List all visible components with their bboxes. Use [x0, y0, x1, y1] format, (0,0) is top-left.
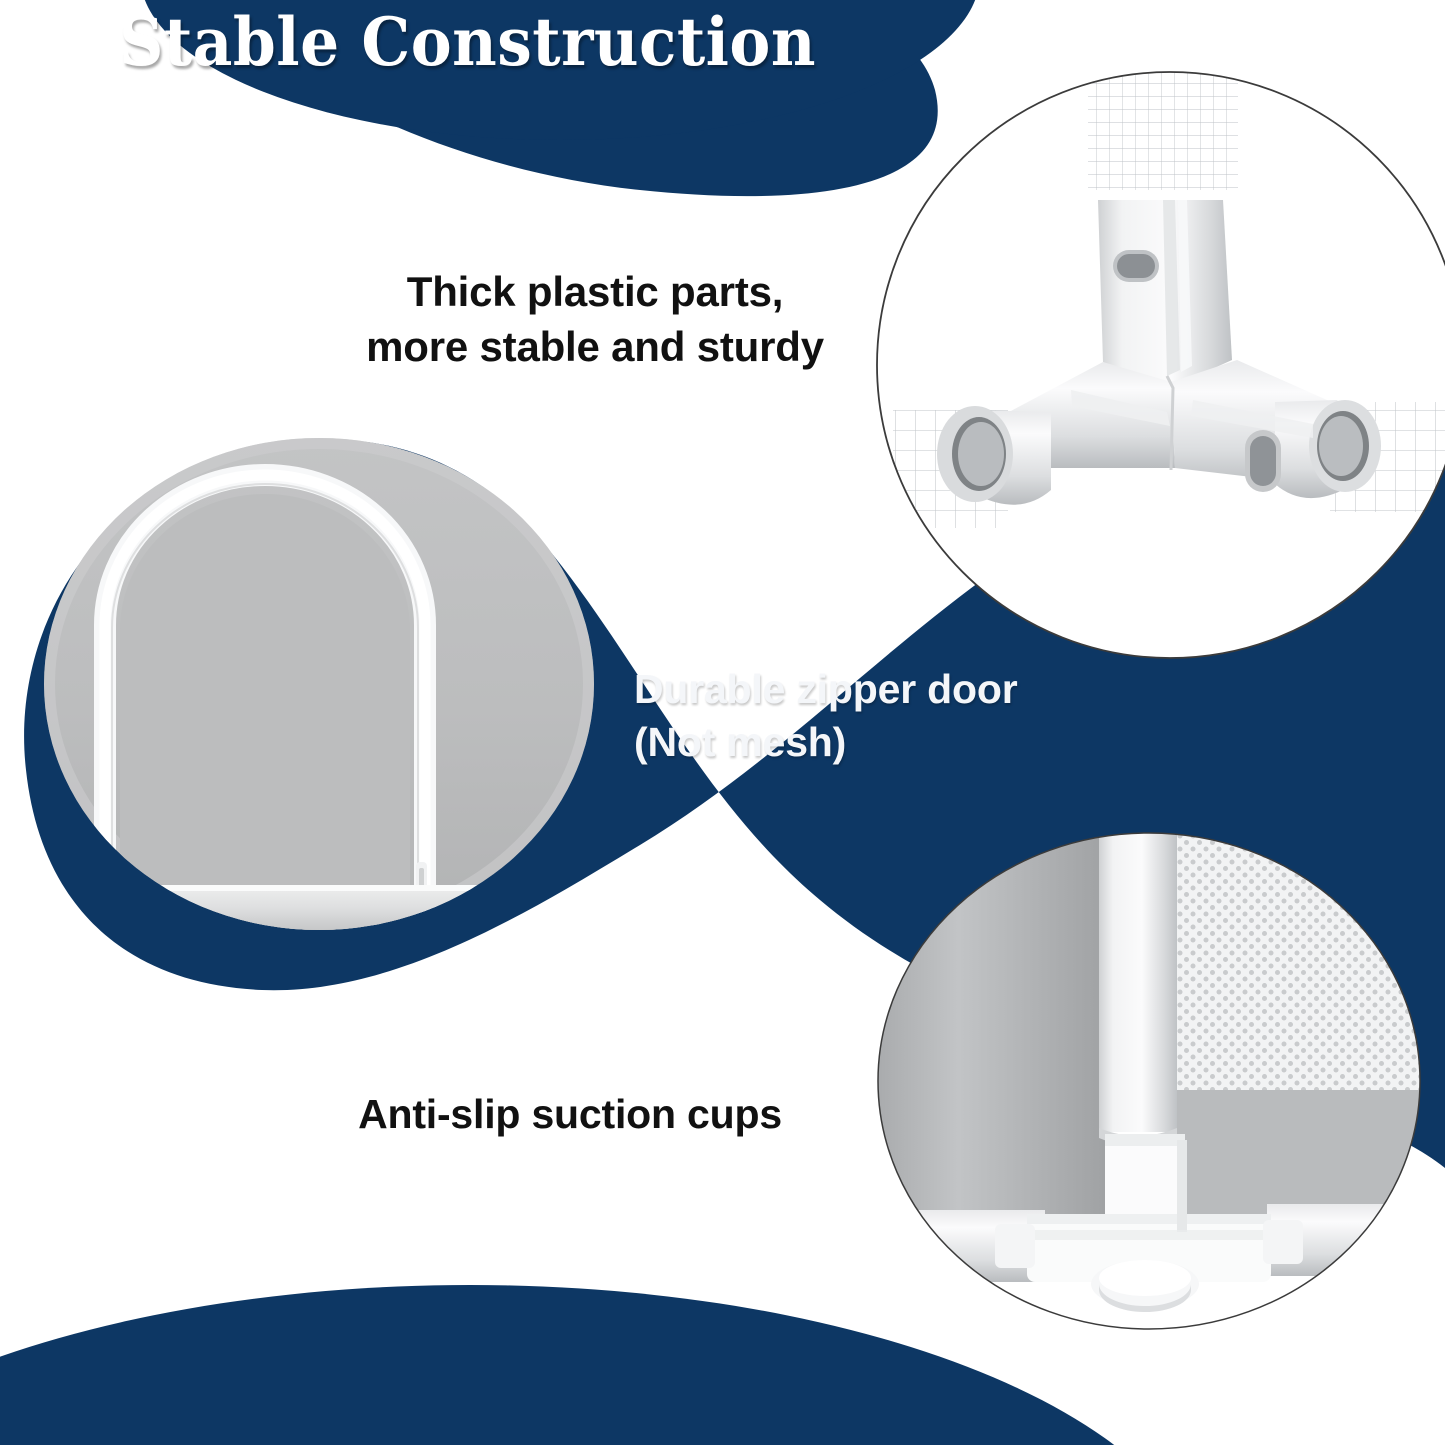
- caption-plastic-parts: Thick plastic parts, more stable and stu…: [180, 265, 1010, 374]
- caption-zipper-door: Durable zipper door (Not mesh): [634, 663, 1154, 770]
- photo-zipper-door: [44, 438, 594, 932]
- caption-suction-cups: Anti-slip suction cups: [150, 1088, 990, 1141]
- page-title: Stable Construction: [33, 8, 903, 77]
- infographic-canvas: Stable Construction Thick plastic parts,…: [0, 0, 1445, 1445]
- bottom-left-navy-ellipse: [0, 1285, 1210, 1445]
